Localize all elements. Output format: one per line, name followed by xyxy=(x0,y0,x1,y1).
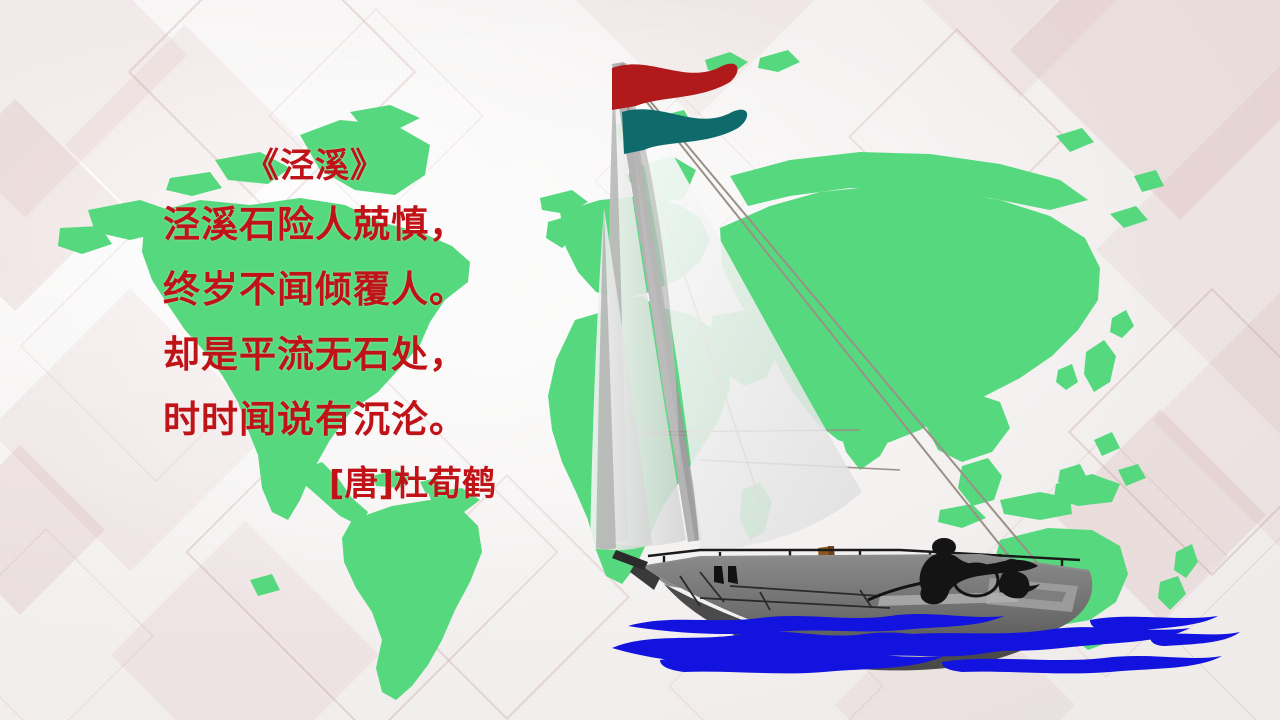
poem-line-4: 时时闻说有沉沦。 xyxy=(120,387,510,452)
poem-line-2: 终岁不闻倾覆人。 xyxy=(120,257,510,322)
poem-line-1: 泾溪石险人兢慎， xyxy=(120,192,510,257)
poem-line-3: 却是平流无石处， xyxy=(120,322,510,387)
poem-block: 《泾溪》 泾溪石险人兢慎， 终岁不闻倾覆人。 却是平流无石处， 时时闻说有沉沦。… xyxy=(120,140,510,516)
wave-group xyxy=(612,614,1240,673)
presentation-slide: 《泾溪》 泾溪石险人兢慎， 终岁不闻倾覆人。 却是平流无石处， 时时闻说有沉沦。… xyxy=(0,0,1280,720)
poem-title: 《泾溪》 xyxy=(120,140,510,192)
poem-author: [唐]杜荀鹤 xyxy=(120,452,510,516)
